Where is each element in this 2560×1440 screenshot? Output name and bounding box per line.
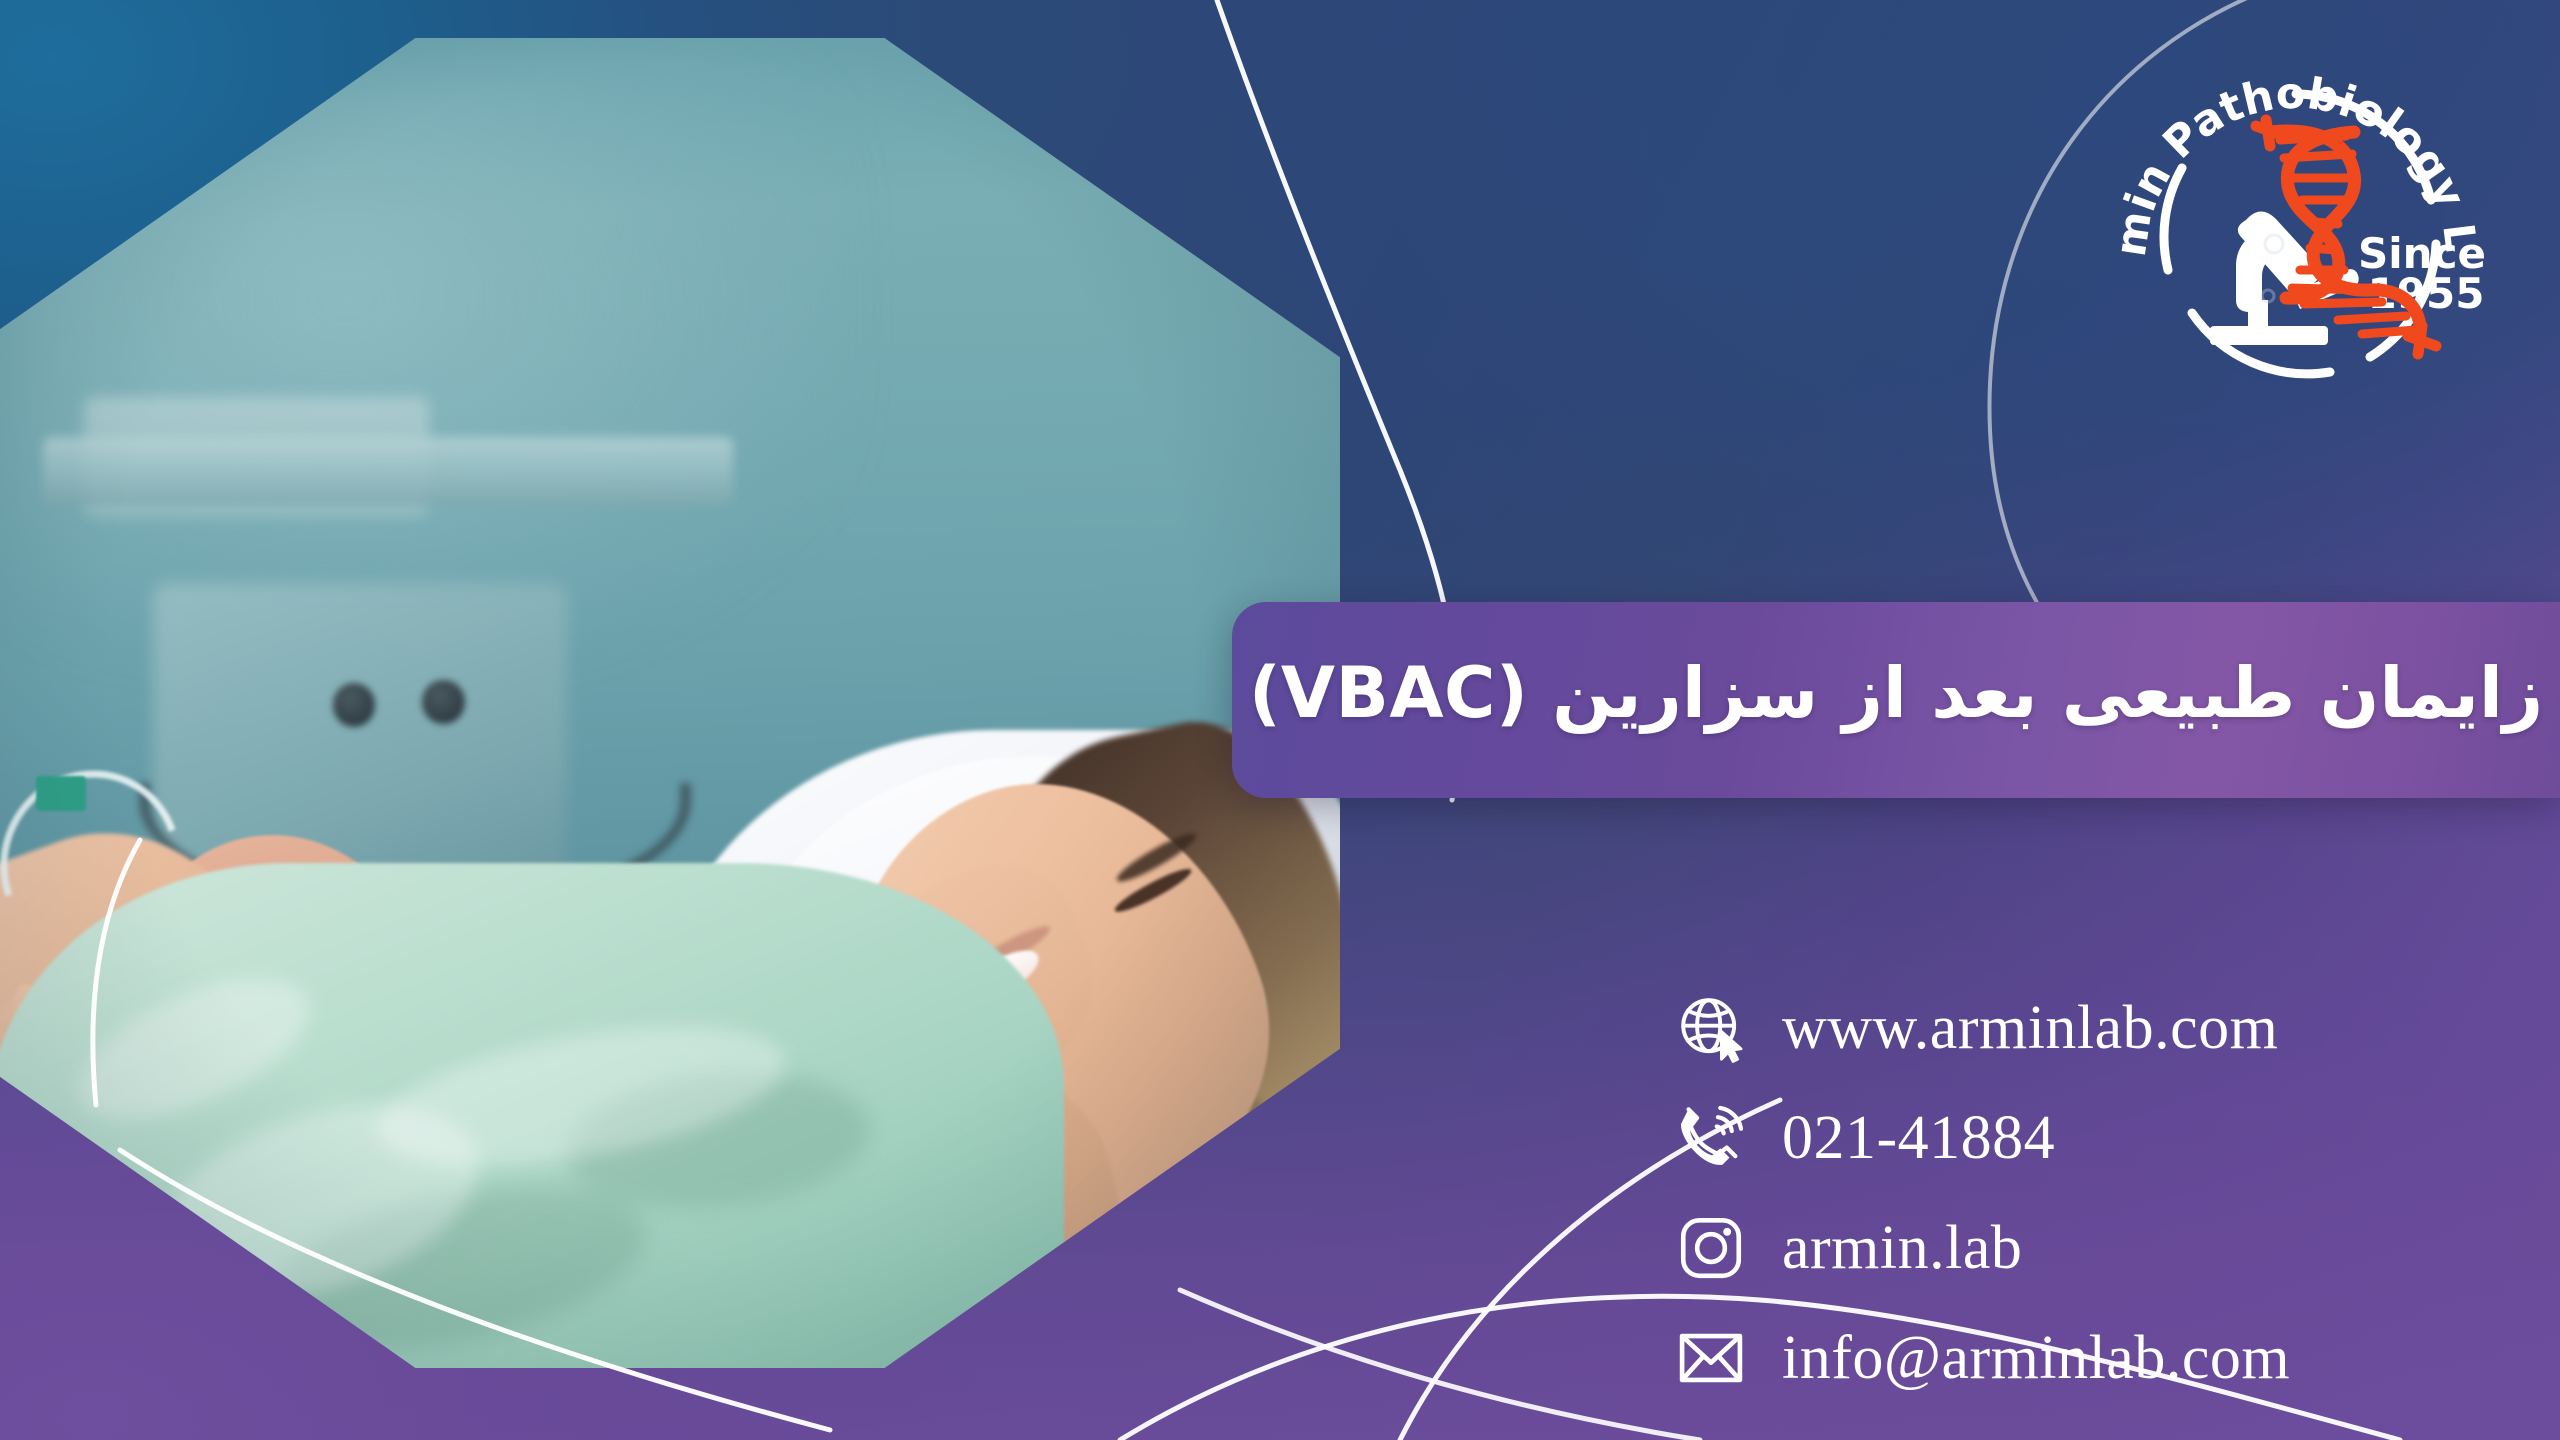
contact-website[interactable]: www.arminlab.com — [1674, 980, 2514, 1076]
hero-photo-image — [0, 38, 1340, 1368]
contact-instagram-label: armin.lab — [1782, 1217, 2022, 1279]
globe-website-icon[interactable] — [1674, 991, 1748, 1065]
hero-photo-octagon — [0, 38, 1340, 1368]
contact-phone[interactable]: 021-41884 — [1674, 1090, 2514, 1186]
brand-logo[interactable]: Armin Pathobiology Lab Since 1955 — [2070, 8, 2522, 460]
phone-ring-icon[interactable] — [1674, 1101, 1748, 1175]
envelope-email-icon[interactable] — [1674, 1321, 1748, 1395]
page-title: زایمان طبیعی بعد از سزارین (VBAC) — [1249, 657, 2543, 731]
contact-phone-label: 021-41884 — [1782, 1107, 2055, 1169]
brand-logo-svg: Armin Pathobiology Lab Since 1955 — [2070, 8, 2522, 460]
photo-vignette — [0, 38, 1340, 1368]
contact-website-label: www.arminlab.com — [1782, 997, 2278, 1059]
instagram-icon[interactable] — [1674, 1211, 1748, 1285]
contact-instagram[interactable]: armin.lab — [1674, 1200, 2514, 1296]
article-title-banner: زایمان طبیعی بعد از سزارین (VBAC) — [1232, 602, 2560, 798]
contact-info-block: www.arminlab.com 021-41884 — [1674, 980, 2514, 1406]
contact-email-label: info@arminlab.com — [1782, 1327, 2290, 1389]
contact-email[interactable]: info@arminlab.com — [1674, 1310, 2514, 1406]
poster-canvas: Armin Pathobiology Lab Since 1955 — [0, 0, 2560, 1440]
